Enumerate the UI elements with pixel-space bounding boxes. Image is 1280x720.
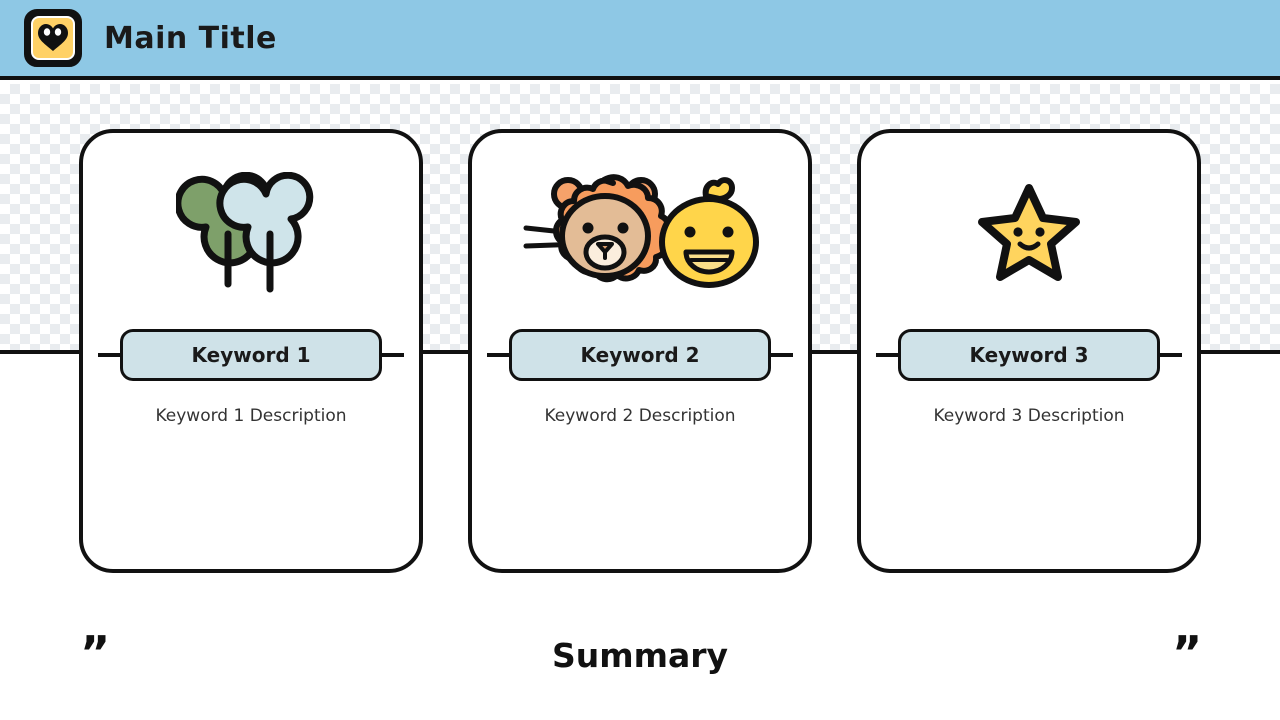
connector-stub-right-1 — [382, 353, 404, 357]
keyword-pill-1[interactable]: Keyword 1 — [120, 329, 382, 381]
summary-row: ” Summary ” — [0, 612, 1280, 706]
logo-badge — [24, 9, 82, 67]
card-description-3: Keyword 3 Description — [861, 406, 1197, 426]
card-keyword-1[interactable]: Keyword 1 Keyword 1 Description — [79, 129, 423, 573]
smiling-star-icon — [861, 169, 1197, 299]
slide-canvas: Main Title Ke — [0, 0, 1280, 720]
connector-stub-left-3 — [876, 353, 898, 357]
card-keyword-3[interactable]: Keyword 3 Keyword 3 Description — [857, 129, 1201, 573]
lion-and-chick-icon — [472, 169, 808, 299]
two-trees-icon — [83, 169, 419, 299]
quote-close-icon: ” — [1172, 630, 1202, 676]
connector-stub-left-2 — [487, 353, 509, 357]
card-description-2: Keyword 2 Description — [472, 406, 808, 426]
connector-stub-right-2 — [771, 353, 793, 357]
slide-header: Main Title — [0, 0, 1280, 80]
keyword-pill-2[interactable]: Keyword 2 — [509, 329, 771, 381]
page-title: Main Title — [104, 21, 277, 56]
connector-stub-left-1 — [98, 353, 120, 357]
keyword-pill-3[interactable]: Keyword 3 — [898, 329, 1160, 381]
card-group: Keyword 1 Keyword 1 Description — [0, 129, 1280, 573]
heart-face-icon — [31, 16, 75, 60]
summary-text: Summary — [0, 636, 1280, 675]
connector-stub-right-3 — [1160, 353, 1182, 357]
card-keyword-2[interactable]: Keyword 2 Keyword 2 Description — [468, 129, 812, 573]
keyword-pill-wrap-3: Keyword 3 — [861, 328, 1197, 382]
keyword-pill-wrap-2: Keyword 2 — [472, 328, 808, 382]
keyword-pill-wrap-1: Keyword 1 — [83, 328, 419, 382]
card-description-1: Keyword 1 Description — [83, 406, 419, 426]
